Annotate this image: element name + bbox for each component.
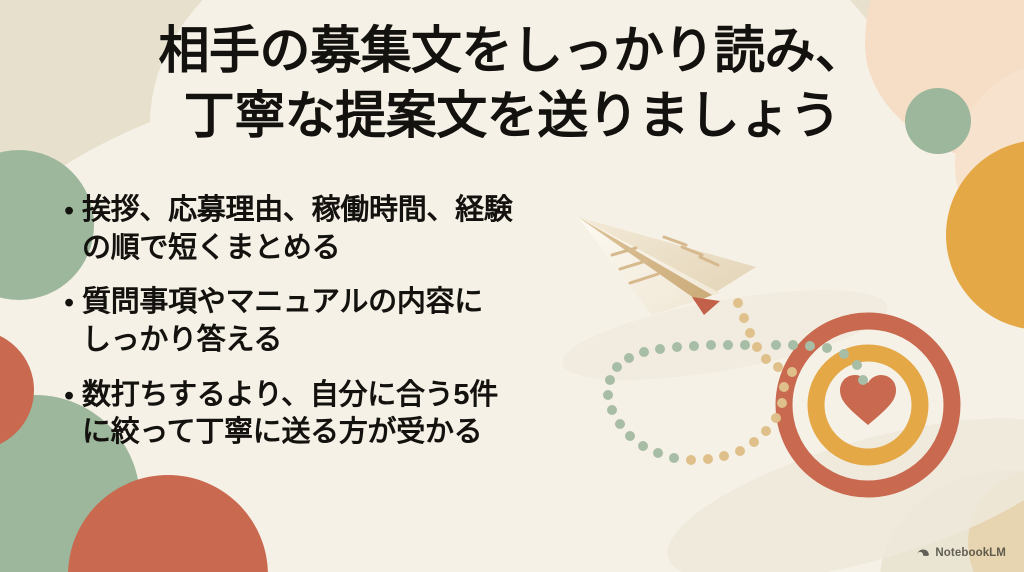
bullet-marker-icon: •	[64, 284, 82, 322]
slide-title: 相手の募集文をしっかり読み、 丁寧な提案文を送りましょう	[0, 18, 1024, 149]
bullet-item-2: • 質問事項やマニュアルの内容に しっかり答える	[64, 284, 624, 359]
bullet-item-1: • 挨拶、応募理由、稼働時間、経験 の順で短くまとめる	[64, 192, 624, 267]
title-line-1: 相手の募集文をしっかり読み、	[0, 18, 1024, 83]
bullet-text-1: 挨拶、応募理由、稼働時間、経験 の順で短くまとめる	[82, 192, 513, 267]
bullet-item-3: • 数打ちするより、自分に合う5件 に絞って丁寧に送る方が受かる	[64, 377, 624, 452]
bullet-text-3: 数打ちするより、自分に合う5件 に絞って丁寧に送る方が受かる	[82, 377, 498, 452]
heart-icon	[840, 375, 896, 425]
watermark-label: NotebookLM	[935, 547, 1006, 559]
slide-illustration	[560, 175, 1024, 505]
notebooklm-logo-icon	[916, 546, 930, 560]
title-line-2: 丁寧な提案文を送りましょう	[0, 83, 1024, 148]
bullet-marker-icon: •	[64, 377, 82, 415]
bullet-list: • 挨拶、応募理由、稼働時間、経験 の順で短くまとめる • 質問事項やマニュアル…	[64, 192, 624, 469]
presentation-slide: 相手の募集文をしっかり読み、 丁寧な提案文を送りましょう • 挨拶、応募理由、稼…	[0, 0, 1024, 572]
bullet-text-2: 質問事項やマニュアルの内容に しっかり答える	[82, 284, 483, 359]
bullet-marker-icon: •	[64, 192, 82, 230]
notebooklm-watermark: NotebookLM	[916, 546, 1006, 560]
